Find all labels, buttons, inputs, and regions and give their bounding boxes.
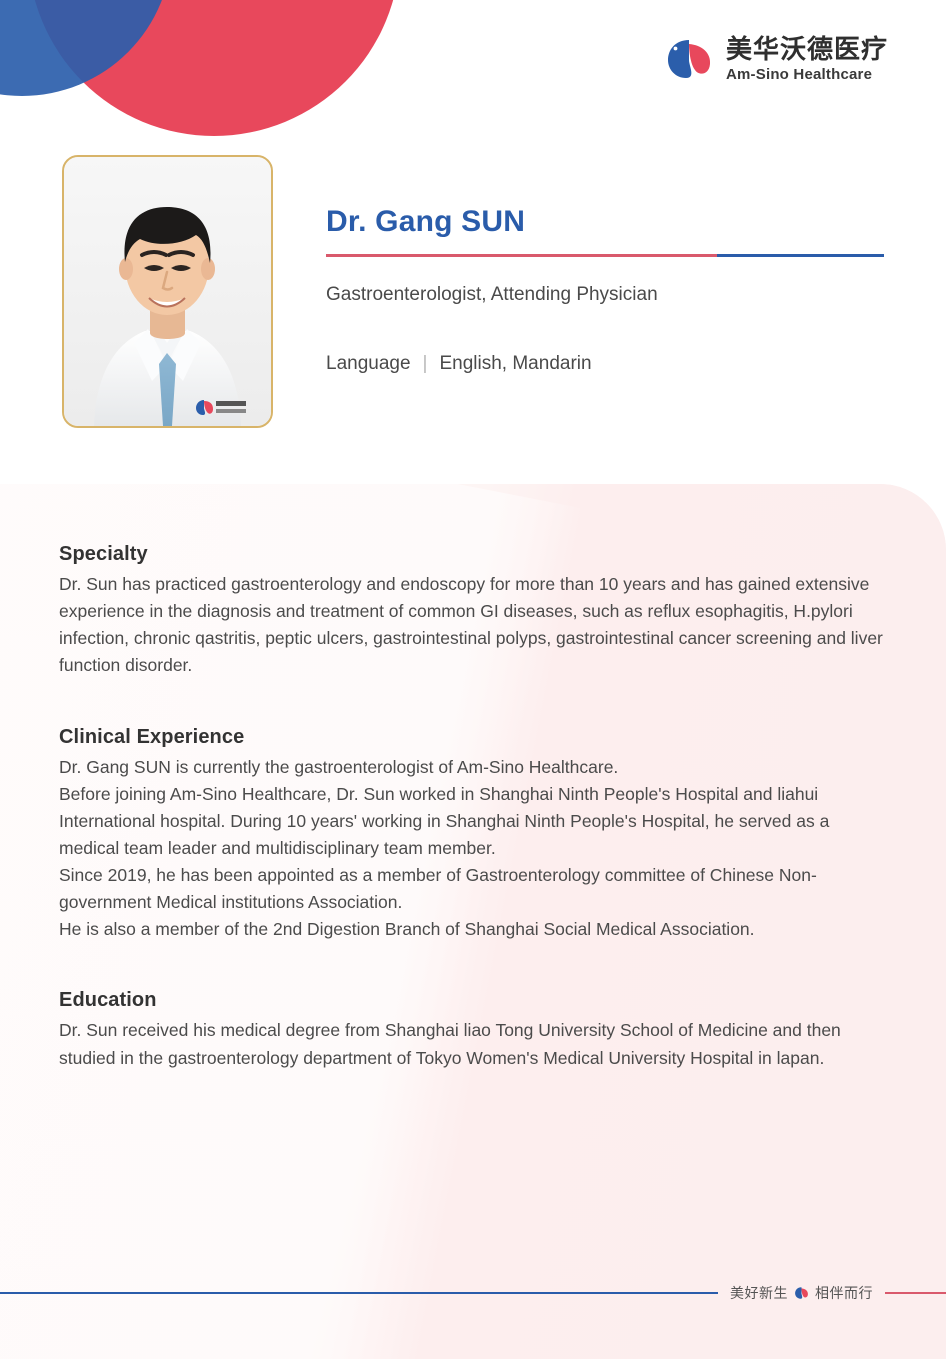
section-paragraph: Dr. Sun has practiced gastroenterology a…	[59, 571, 889, 680]
name-underline-rule	[326, 254, 884, 257]
section-paragraph: Dr. Sun received his medical degree from…	[59, 1017, 889, 1071]
rule-segment-red	[326, 254, 717, 257]
section-paragraph: Since 2019, he has been appointed as a m…	[59, 862, 889, 916]
section-paragraph: Before joining Am-Sino Healthcare, Dr. S…	[59, 781, 889, 862]
profile-content: Specialty Dr. Sun has practiced gastroen…	[59, 543, 889, 1072]
doctor-photo-frame	[62, 155, 273, 428]
section-title: Education	[59, 989, 889, 1012]
footer-rule-blue	[0, 1292, 718, 1294]
footer-rule-red	[885, 1292, 946, 1294]
section-title: Specialty	[59, 543, 889, 566]
footer-slogan: 美好新生 相伴而行	[718, 1283, 885, 1303]
doctor-portrait-illustration	[64, 157, 271, 426]
footer-slogan-left: 美好新生	[730, 1283, 788, 1303]
section-body: Dr. Sun has practiced gastroenterology a…	[59, 571, 889, 680]
section-body: Dr. Sun received his medical degree from…	[59, 1017, 889, 1071]
section-specialty: Specialty Dr. Sun has practiced gastroen…	[59, 543, 889, 680]
section-education: Education Dr. Sun received his medical d…	[59, 989, 889, 1071]
language-row: Language | English, Mandarin	[326, 352, 884, 377]
profile-info: Dr. Gang SUN Gastroenterologist, Attendi…	[326, 205, 884, 376]
footer-slogan-right: 相伴而行	[815, 1283, 873, 1303]
section-clinical-experience: Clinical Experience Dr. Gang SUN is curr…	[59, 726, 889, 944]
doctor-title: Gastroenterologist, Attending Physician	[326, 283, 884, 308]
doctor-name: Dr. Gang SUN	[326, 205, 884, 238]
section-paragraph: He is also a member of the 2nd Digestion…	[59, 916, 889, 943]
section-title: Clinical Experience	[59, 726, 889, 749]
section-paragraph: Dr. Gang SUN is currently the gastroente…	[59, 754, 889, 781]
rule-segment-blue	[717, 254, 884, 257]
doctor-photo	[64, 157, 271, 426]
language-label: Language	[326, 352, 411, 377]
doctor-profile-page: 美华沃德医疗 Am-Sino Healthcare	[0, 0, 946, 1359]
section-body: Dr. Gang SUN is currently the gastroente…	[59, 754, 889, 944]
language-value: English, Mandarin	[439, 352, 591, 377]
am-sino-petal-logo-icon	[794, 1286, 809, 1300]
page-footer: 美好新生 相伴而行	[0, 1282, 946, 1304]
language-separator: |	[423, 352, 428, 377]
profile-header: Dr. Gang SUN Gastroenterologist, Attendi…	[0, 0, 946, 484]
